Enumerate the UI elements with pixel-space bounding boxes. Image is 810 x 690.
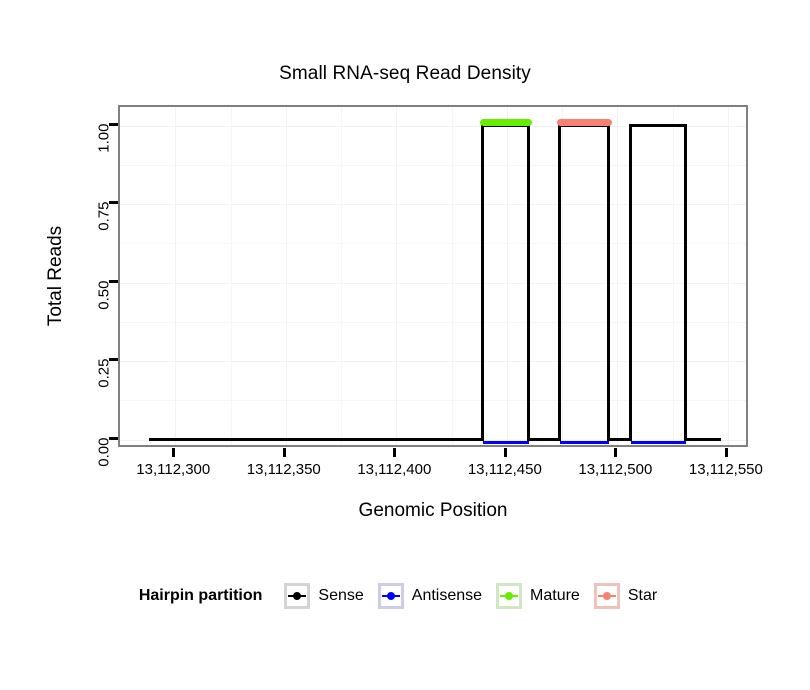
sense-segment bbox=[149, 438, 483, 441]
legend: Hairpin partition SenseAntisenseMatureSt… bbox=[0, 583, 810, 609]
legend-item-sense[interactable]: Sense bbox=[284, 583, 363, 609]
sense-riser bbox=[558, 124, 561, 441]
legend-key-icon bbox=[284, 583, 310, 609]
y-axis-tick-label: 0.25 bbox=[96, 359, 113, 419]
mature-annotation-bar bbox=[480, 119, 532, 126]
legend-item-label: Antisense bbox=[412, 587, 482, 605]
legend-item-label: Star bbox=[628, 587, 657, 605]
legend-item-label: Mature bbox=[530, 587, 580, 605]
star-annotation-bar bbox=[557, 119, 612, 126]
sense-riser bbox=[527, 124, 530, 441]
y-axis-tick-label: 0.75 bbox=[96, 202, 113, 262]
sense-riser bbox=[607, 124, 610, 441]
legend-item-mature[interactable]: Mature bbox=[496, 583, 580, 609]
sense-segment bbox=[686, 438, 721, 441]
legend-title: Hairpin partition bbox=[139, 587, 263, 605]
legend-point-glyph bbox=[293, 592, 301, 600]
antisense-segment bbox=[631, 441, 686, 444]
legend-item-star[interactable]: Star bbox=[594, 583, 657, 609]
sense-riser bbox=[629, 124, 632, 441]
page-title: Small RNA-seq Read Density bbox=[0, 63, 810, 85]
legend-key-icon bbox=[496, 583, 522, 609]
sense-segment bbox=[529, 438, 560, 441]
x-axis-tick bbox=[283, 448, 286, 457]
antisense-segment bbox=[560, 441, 609, 444]
legend-items: SenseAntisenseMatureStar bbox=[284, 583, 671, 609]
y-axis-tick-label: 0.50 bbox=[96, 280, 113, 340]
legend-key-icon bbox=[378, 583, 404, 609]
x-axis-tick bbox=[614, 448, 617, 457]
sense-riser bbox=[481, 124, 484, 441]
antisense-segment bbox=[483, 441, 529, 444]
y-axis-title: Total Reads bbox=[42, 105, 70, 447]
legend-item-label: Sense bbox=[318, 587, 363, 605]
sense-segment bbox=[609, 438, 631, 441]
x-axis-tick-label: 13,112,550 bbox=[656, 461, 796, 478]
sense-riser bbox=[684, 124, 687, 441]
x-axis-title: Genomic Position bbox=[118, 500, 748, 522]
sense-segment bbox=[631, 124, 686, 127]
y-axis-tick-label: 1.00 bbox=[96, 123, 113, 183]
legend-point-glyph bbox=[387, 592, 395, 600]
plot-panel bbox=[118, 105, 748, 447]
legend-item-antisense[interactable]: Antisense bbox=[378, 583, 482, 609]
x-axis-tick bbox=[725, 448, 728, 457]
legend-point-glyph bbox=[603, 592, 611, 600]
legend-point-glyph bbox=[505, 592, 513, 600]
x-axis-tick bbox=[172, 448, 175, 457]
data-series-layer bbox=[120, 107, 746, 445]
x-axis-tick bbox=[393, 448, 396, 457]
x-axis-tick bbox=[504, 448, 507, 457]
legend-key-icon bbox=[594, 583, 620, 609]
